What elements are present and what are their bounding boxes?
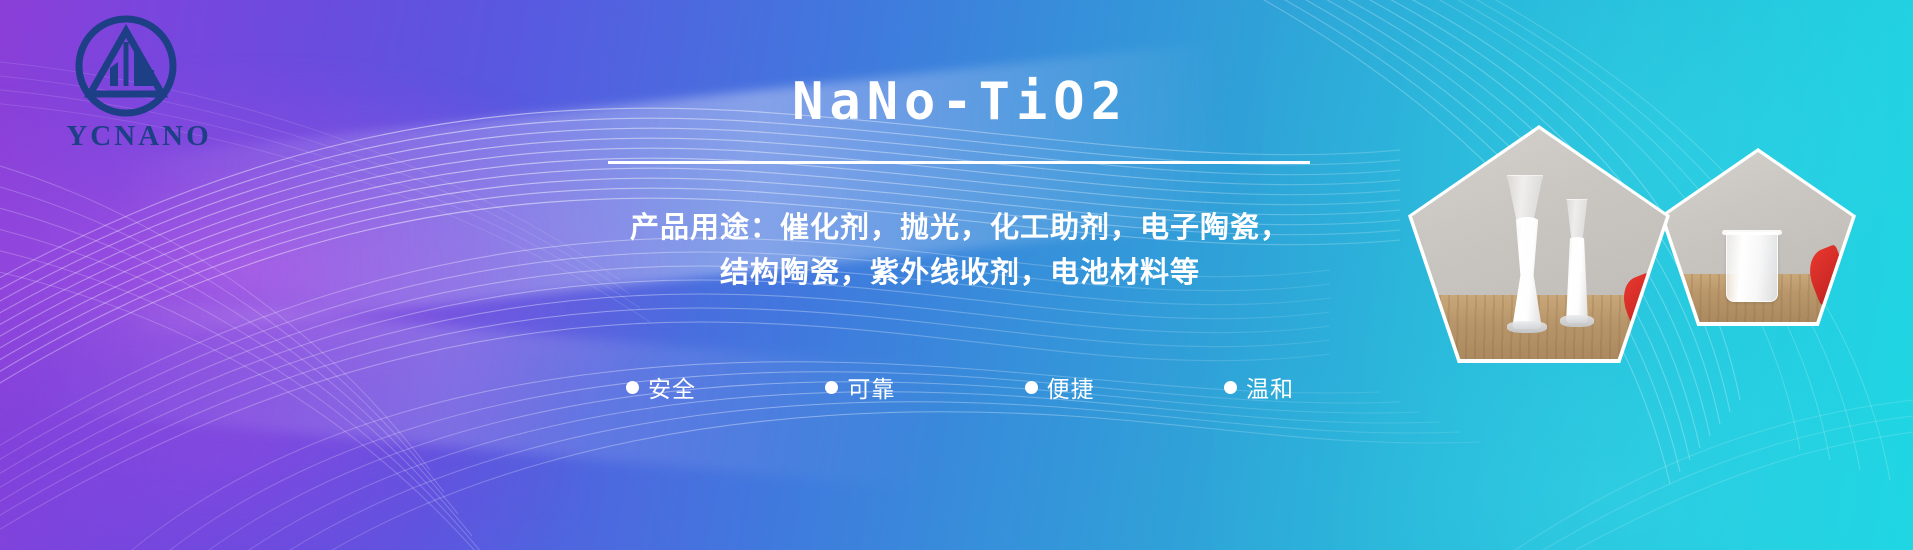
feature-item-safe: 安全 [626,370,696,404]
feature-list: 安全 可靠 便捷 温和 [600,370,1320,404]
wall-background [1412,129,1666,295]
beaker-scene [1664,152,1852,322]
feature-label: 可靠 [847,370,895,404]
beaker-spout [1722,230,1782,235]
logo-wordmark: YCNANO [44,120,234,153]
feature-label: 安全 [648,370,696,404]
feature-item-reliable: 可靠 [825,370,895,404]
product-photo-beaker [1660,148,1856,326]
bullet-dot-icon [1224,381,1237,394]
purple-glow-lower-left [0,300,580,550]
product-usage-line-1: 产品用途：催化剂，抛光，化工助剂，电子陶瓷， [570,205,1350,250]
vases-scene [1412,129,1666,359]
vase-base-tall [1507,321,1547,333]
page-title: NaNo-TiO2 [600,74,1320,131]
bullet-dot-icon [1025,381,1038,394]
feature-label: 温和 [1246,370,1294,404]
feature-item-mild: 温和 [1224,370,1294,404]
title-divider [608,161,1310,164]
product-banner: YCNANO NaNo-TiO2 产品用途：催化剂，抛光，化工助剂，电子陶瓷， … [0,0,1913,550]
ycnano-logo[interactable]: YCNANO [44,14,234,159]
product-photo-vases [1408,125,1670,363]
bullet-dot-icon [825,381,838,394]
vase-base-short [1560,315,1594,327]
banner-content: NaNo-TiO2 产品用途：催化剂，抛光，化工助剂，电子陶瓷， 结构陶瓷，紫外… [600,0,1320,550]
triangle-in-circle-icon [74,14,178,118]
feature-item-convenient: 便捷 [1025,370,1095,404]
beaker-glass [1726,232,1778,302]
bullet-dot-icon [626,381,639,394]
feature-label: 便捷 [1047,370,1095,404]
product-usage-text: 产品用途：催化剂，抛光，化工助剂，电子陶瓷， 结构陶瓷，紫外线收剂，电池材料等 [570,205,1350,295]
product-usage-line-2: 结构陶瓷，紫外线收剂，电池材料等 [570,250,1350,295]
